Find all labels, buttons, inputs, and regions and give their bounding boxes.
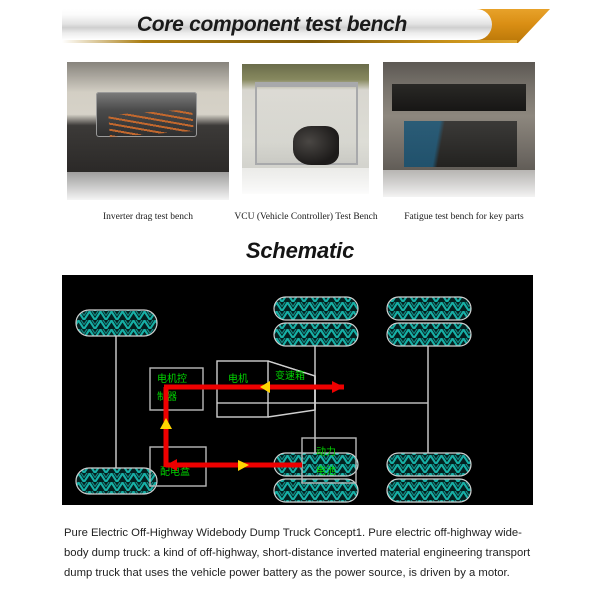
block-label-power-battery-line2: 电池	[316, 464, 336, 477]
wheel-front	[76, 310, 157, 336]
arrow-distribution-to-controller	[160, 418, 172, 429]
wheel-rear-axle2-top	[387, 297, 471, 346]
page-title: Core component test bench	[62, 9, 482, 40]
photo-image-inverter	[67, 62, 229, 200]
photo-vcu-test-bench[interactable]	[242, 64, 369, 194]
photo-image-vcu	[242, 64, 369, 194]
banner-underline	[62, 40, 517, 43]
block-label-motor-controller-line1: 电机控	[157, 372, 187, 385]
arrow-battery-to-distribution	[238, 460, 249, 471]
photo-image-fatigue	[383, 62, 535, 197]
block-label-motor: 电机	[228, 372, 248, 385]
photo-inverter-drag-test-bench[interactable]	[67, 62, 229, 200]
photo-caption-inverter: Inverter drag test bench	[67, 212, 229, 222]
photo-fatigue-test-bench[interactable]	[383, 62, 535, 197]
arrow-motor-to-gearbox	[260, 381, 270, 393]
photo-cell-vcu	[242, 64, 369, 222]
schematic-diagram: 电机控 制器 电机 变速箱 配电盒 动力 电池	[62, 275, 533, 505]
page-header-banner: Core component test bench	[0, 0, 600, 56]
wheel-front-lower	[76, 468, 157, 494]
wheel-rear-axle1-top	[274, 297, 358, 346]
photo-cell-fatigue	[383, 62, 535, 222]
wheel-rear-axle2-bottom	[387, 453, 471, 502]
block-label-gearbox: 变速箱	[275, 369, 305, 382]
test-bench-photo-row: Inverter drag test bench VCU (Vehicle Co…	[0, 60, 600, 225]
product-description: Pure Electric Off-Highway Widebody Dump …	[64, 523, 534, 583]
wheel-rear-axle1-bottom	[274, 453, 358, 502]
photo-caption-vcu: VCU (Vehicle Controller) Test Bench	[228, 212, 384, 222]
block-label-power-battery-line1: 动力	[316, 445, 336, 458]
photo-caption-fatigue: Fatigue test bench for key parts	[388, 212, 540, 222]
arrowhead-into-axle	[332, 381, 344, 393]
photo-cell-inverter	[67, 62, 229, 222]
schematic-heading: Schematic	[0, 238, 600, 264]
